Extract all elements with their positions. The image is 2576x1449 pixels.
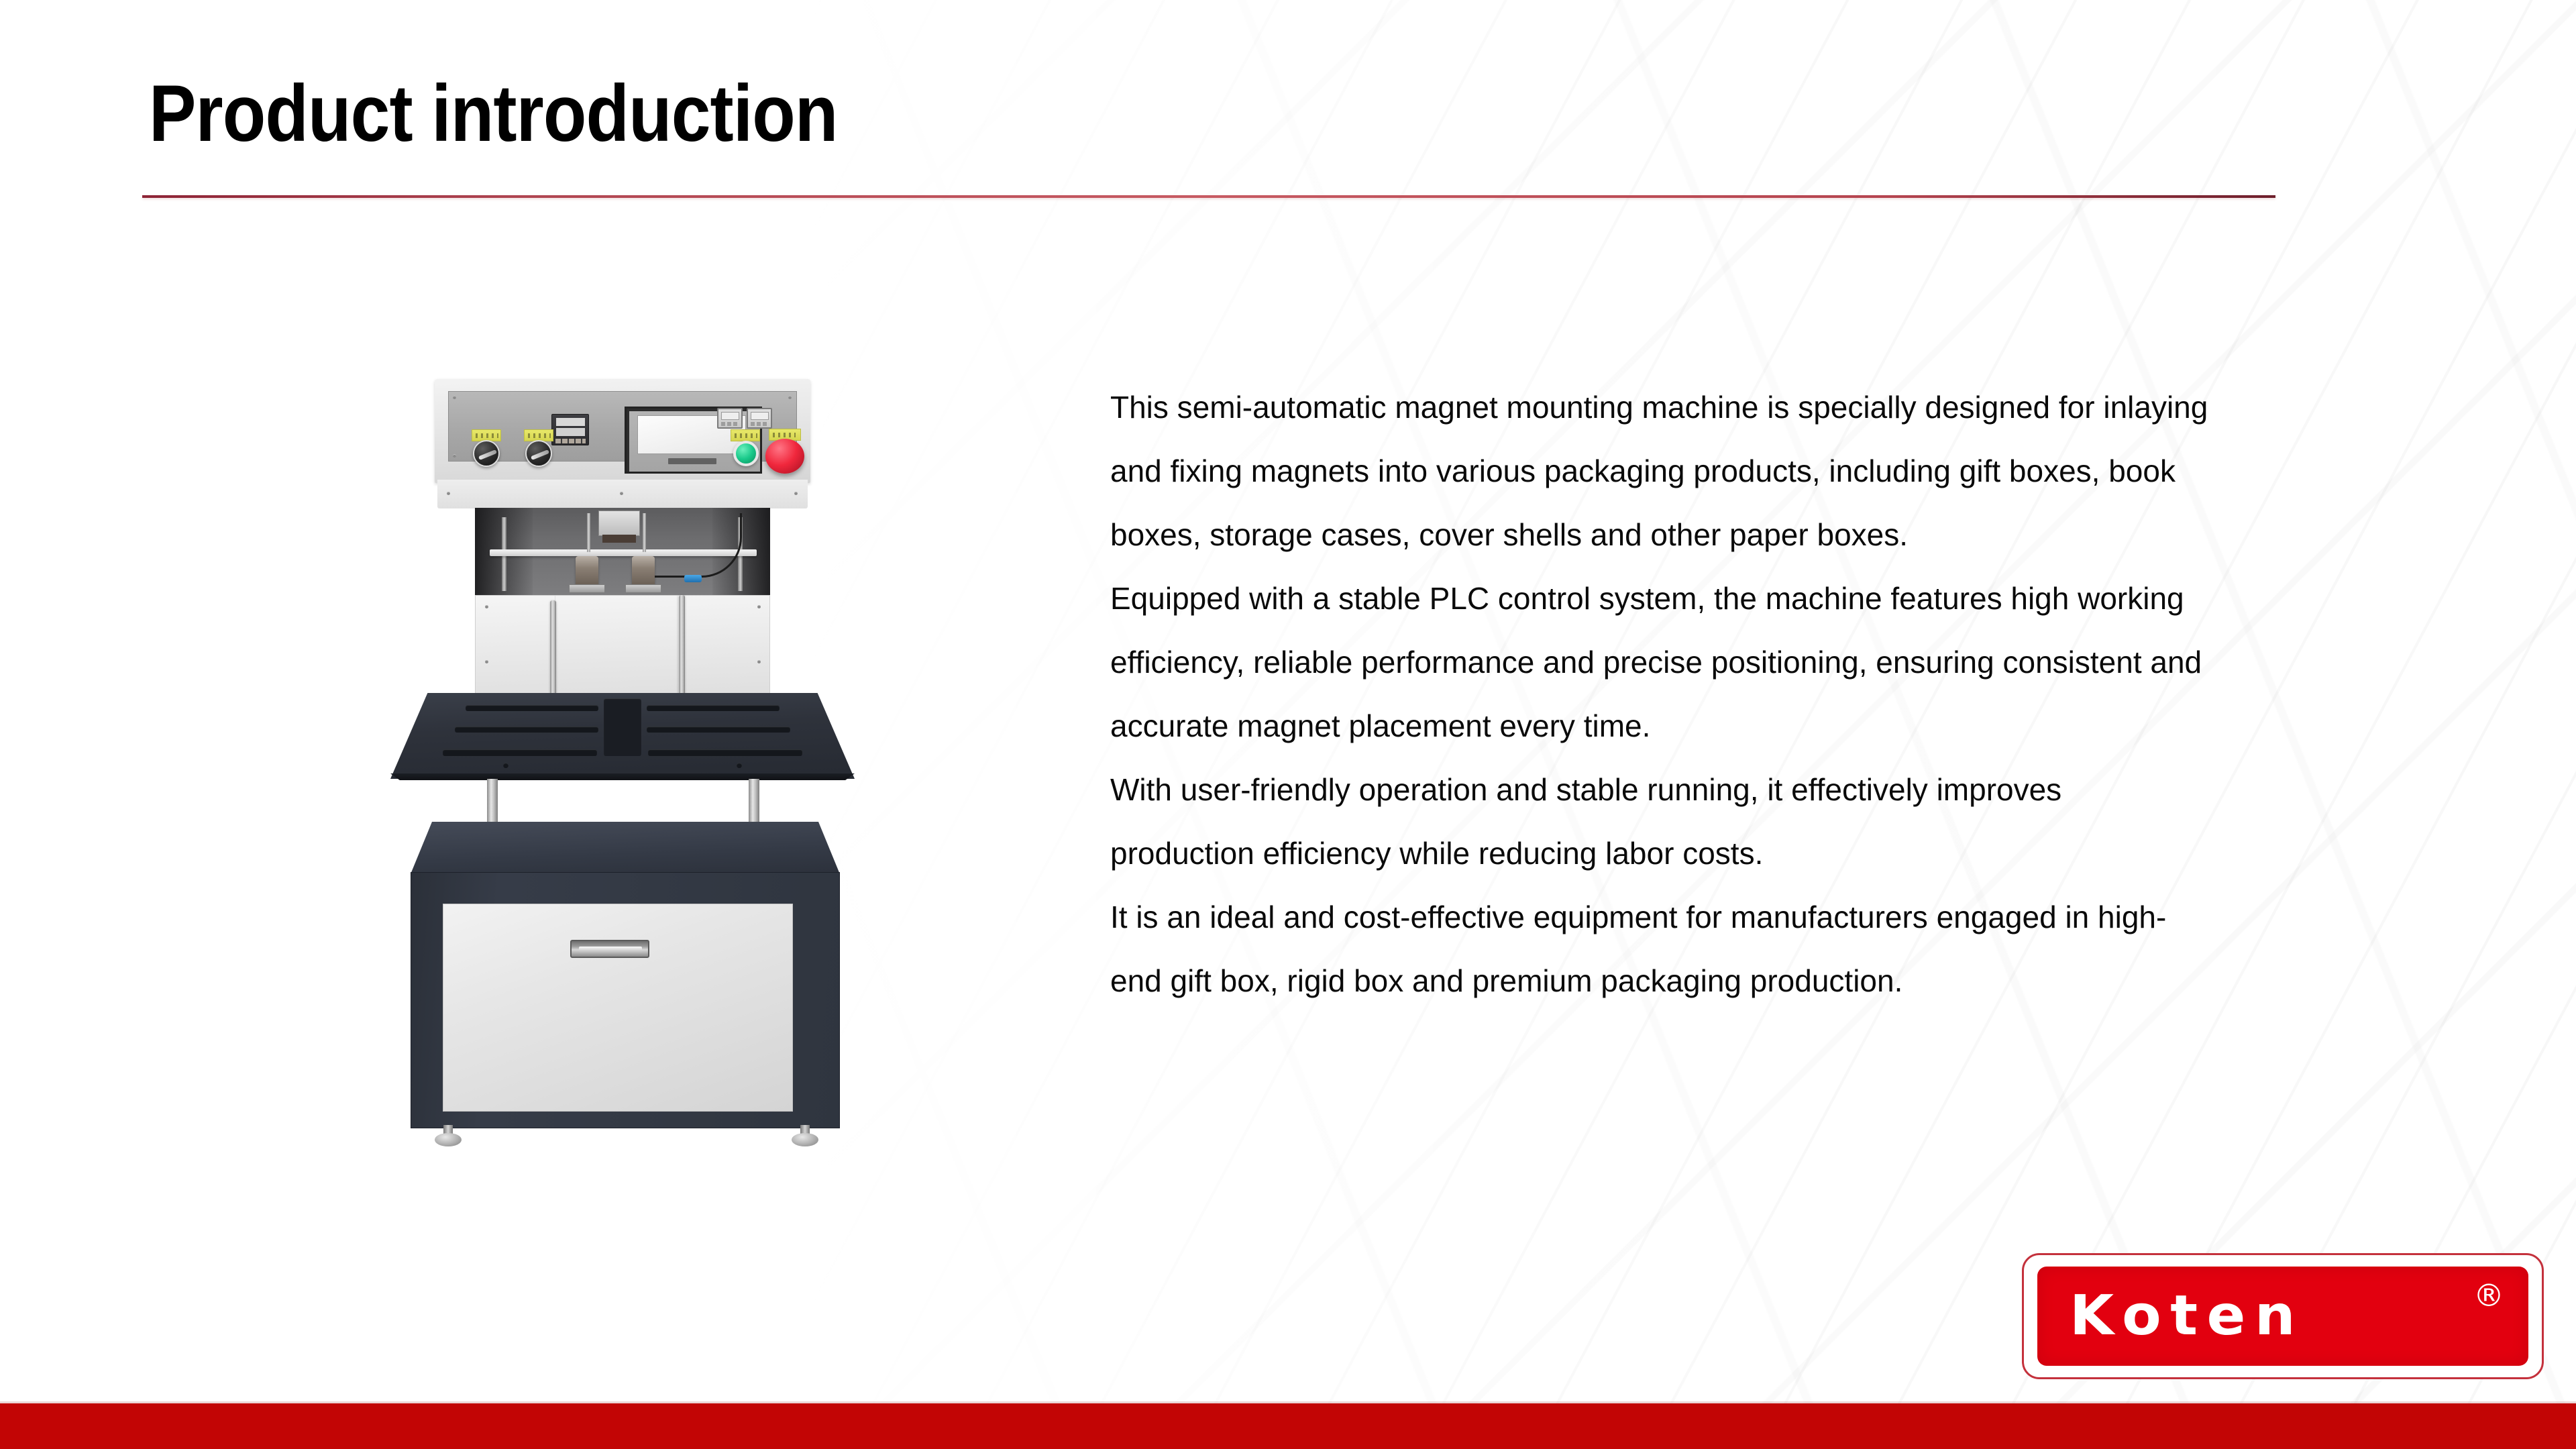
table-support-leg-right: [749, 779, 759, 828]
emergency-stop-button[interactable]: [765, 439, 804, 474]
panel-screw-icon: [757, 605, 761, 608]
body-paragraph-3: With user-friendly operation and stable …: [1110, 758, 2210, 885]
logo-plate: Koten ®: [2037, 1267, 2528, 1366]
body-paragraph-4: It is an ideal and cost-effective equipm…: [1110, 885, 2210, 1013]
control-head-skirt: [437, 480, 808, 508]
body-paragraph-1: This semi-automatic magnet mounting mach…: [1110, 376, 2210, 567]
control-panel-face: [448, 391, 797, 462]
hose-fitting: [684, 575, 702, 582]
page-title: Product introduction: [149, 70, 838, 158]
adjustable-foot-right: [792, 1125, 818, 1146]
selector-knob-right[interactable]: [525, 440, 552, 467]
work-table-edge: [390, 773, 855, 780]
digital-meter-left[interactable]: [717, 408, 743, 429]
mechanism-bay: [475, 508, 770, 597]
panel-screw-icon: [453, 396, 456, 399]
start-button-label: [731, 429, 760, 441]
cabinet-top: [411, 822, 840, 874]
logo-wordmark: Koten: [2070, 1289, 2304, 1344]
cabinet-door-panel[interactable]: [443, 904, 793, 1112]
panel-screw-icon: [757, 660, 761, 663]
panel-screw-icon: [485, 660, 488, 663]
hmi-brand-label: [668, 458, 716, 464]
registered-trademark-icon: ®: [2473, 1280, 2504, 1311]
body-paragraph-2: Equipped with a stable PLC control syste…: [1110, 567, 2210, 758]
panel-screw-icon: [794, 492, 798, 495]
panel-screw-icon: [485, 605, 488, 608]
digital-meter-right[interactable]: [747, 408, 772, 429]
selector-knob-left[interactable]: [473, 440, 500, 467]
table-support-leg-left: [487, 779, 498, 828]
machine-lower-shell: [475, 595, 770, 709]
panel-screw-icon: [620, 492, 623, 495]
slide-canvas: Product introduction: [0, 0, 2576, 1449]
koten-logo: Koten ®: [2022, 1253, 2544, 1379]
press-head-block: [598, 511, 640, 536]
product-image: [376, 379, 872, 1234]
start-button[interactable]: [733, 441, 759, 466]
cabinet-door-handle[interactable]: [570, 940, 649, 958]
temperature-controller[interactable]: [551, 414, 589, 445]
adjustable-foot-left: [435, 1125, 462, 1146]
pneumatic-cylinder-right: [632, 556, 655, 586]
work-table: [390, 693, 855, 779]
panel-screw-icon: [453, 454, 456, 458]
footer-red-bar: [0, 1403, 2576, 1449]
body-text-block: This semi-automatic magnet mounting mach…: [1110, 376, 2210, 1013]
pneumatic-cylinder-left: [576, 556, 598, 586]
title-divider-rule: [142, 195, 2275, 198]
panel-screw-icon: [788, 396, 792, 399]
panel-screw-icon: [447, 492, 450, 495]
